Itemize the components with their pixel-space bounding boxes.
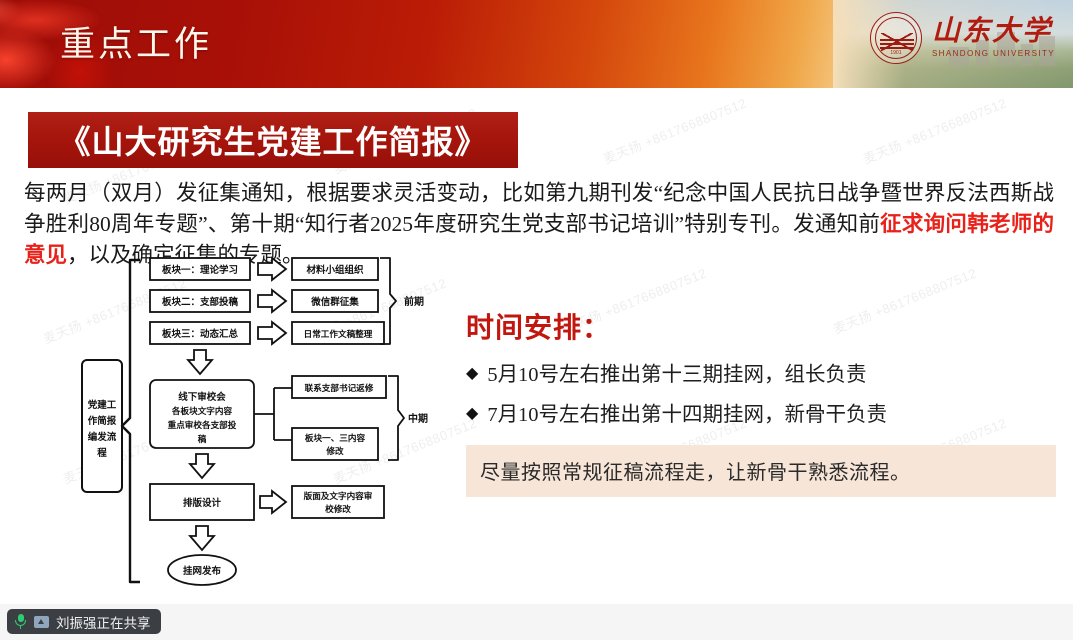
microphone-icon[interactable]: [14, 614, 27, 629]
seal-year: 1901: [871, 50, 921, 56]
diamond-bullet-icon: ◆: [466, 360, 478, 387]
flow-arrow-down-3: [190, 526, 214, 550]
share-status-text: 刘振强正在共享: [56, 612, 151, 632]
schedule-title: 时间安排：: [466, 306, 1056, 346]
flow-arrow-right-group: [258, 258, 286, 344]
svg-text:版面及文字内容审: 版面及文字内容审: [303, 490, 373, 501]
svg-text:板块三：动态汇总: 板块三：动态汇总: [162, 328, 239, 340]
section-title-text: 《山大研究生党建工作简报》: [58, 117, 487, 163]
screen-share-icon[interactable]: [34, 616, 49, 628]
flow-stage-label-early: 前期: [404, 295, 424, 308]
svg-text:修改: 修改: [325, 445, 344, 456]
page-title: 重点工作: [60, 16, 212, 67]
flow-review-connector: [254, 388, 292, 440]
svg-text:排版设计: 排版设计: [183, 497, 222, 509]
svg-text:板块二：支部投稿: 板块二：支部投稿: [162, 296, 239, 308]
flow-arrow-down-2: [190, 454, 214, 478]
svg-text:党建工: 党建工: [88, 399, 117, 411]
svg-text:板块一：理论学习: 板块一：理论学习: [162, 264, 238, 276]
screen-share-indicator[interactable]: 刘振强正在共享: [7, 609, 161, 634]
flow-middle-brace: [388, 376, 404, 460]
schedule-item-text: 5月10号左右推出第十三期挂网，组长负责: [487, 360, 866, 391]
flow-arrow-right-4: [260, 491, 286, 513]
university-logo: 1901 山东大学 SHANDONG UNIVERSITY: [870, 12, 1055, 64]
slide-canvas: 重点工作 1901 山东大学 SHANDONG UNIVERSITY 麦天扬 +…: [0, 0, 1073, 640]
logo-name-cn: 山东大学: [932, 18, 1055, 46]
schedule-note: 尽量按照常规征稿流程走，让新骨干熟悉流程。: [466, 445, 1056, 497]
diamond-bullet-icon: ◆: [466, 400, 478, 427]
section-title-banner: 《山大研究生党建工作简报》: [28, 112, 518, 168]
schedule-item-text: 7月10号左右推出第十四期挂网，新骨干负责: [487, 400, 887, 431]
flow-stage-label-middle: 中期: [408, 412, 428, 425]
svg-text:稿: 稿: [198, 433, 207, 444]
university-seal-icon: 1901: [870, 12, 922, 64]
schedule-item: ◆ 7月10号左右推出第十四期挂网，新骨干负责: [466, 400, 1056, 431]
svg-text:材料小组组织: 材料小组组织: [305, 264, 364, 276]
schedule-panel: 时间安排： ◆ 5月10号左右推出第十三期挂网，组长负责 ◆ 7月10号左右推出…: [466, 306, 1056, 497]
svg-text:挂网发布: 挂网发布: [183, 565, 222, 577]
svg-text:板块一、三内容: 板块一、三内容: [305, 432, 366, 443]
svg-text:作简报: 作简报: [88, 415, 117, 427]
svg-text:程: 程: [97, 447, 107, 459]
svg-text:日常工作文稿整理: 日常工作文稿整理: [304, 328, 373, 339]
svg-text:各板块文字内容: 各板块文字内容: [171, 405, 233, 416]
svg-text:编发流: 编发流: [88, 431, 117, 443]
bottom-status-bar: 刘振强正在共享: [0, 604, 1073, 640]
svg-text:校修改: 校修改: [325, 503, 351, 514]
svg-text:线下审校会: 线下审校会: [178, 391, 226, 403]
svg-text:重点审校各支部投: 重点审校各支部投: [168, 419, 237, 430]
svg-text:联系支部书记返修: 联系支部书记返修: [305, 382, 374, 393]
flow-arrow-down-1: [188, 350, 212, 374]
schedule-item: ◆ 5月10号左右推出第十三期挂网，组长负责: [466, 360, 1056, 391]
logo-name-en: SHANDONG UNIVERSITY: [932, 49, 1055, 58]
flow-root-brace: [122, 260, 140, 582]
workflow-diagram: 党建工 作简报 编发流 程 板块一：理论学习 板块二：支部投稿 板块三：动态汇总…: [78, 252, 438, 592]
svg-text:微信群征集: 微信群征集: [310, 296, 359, 308]
